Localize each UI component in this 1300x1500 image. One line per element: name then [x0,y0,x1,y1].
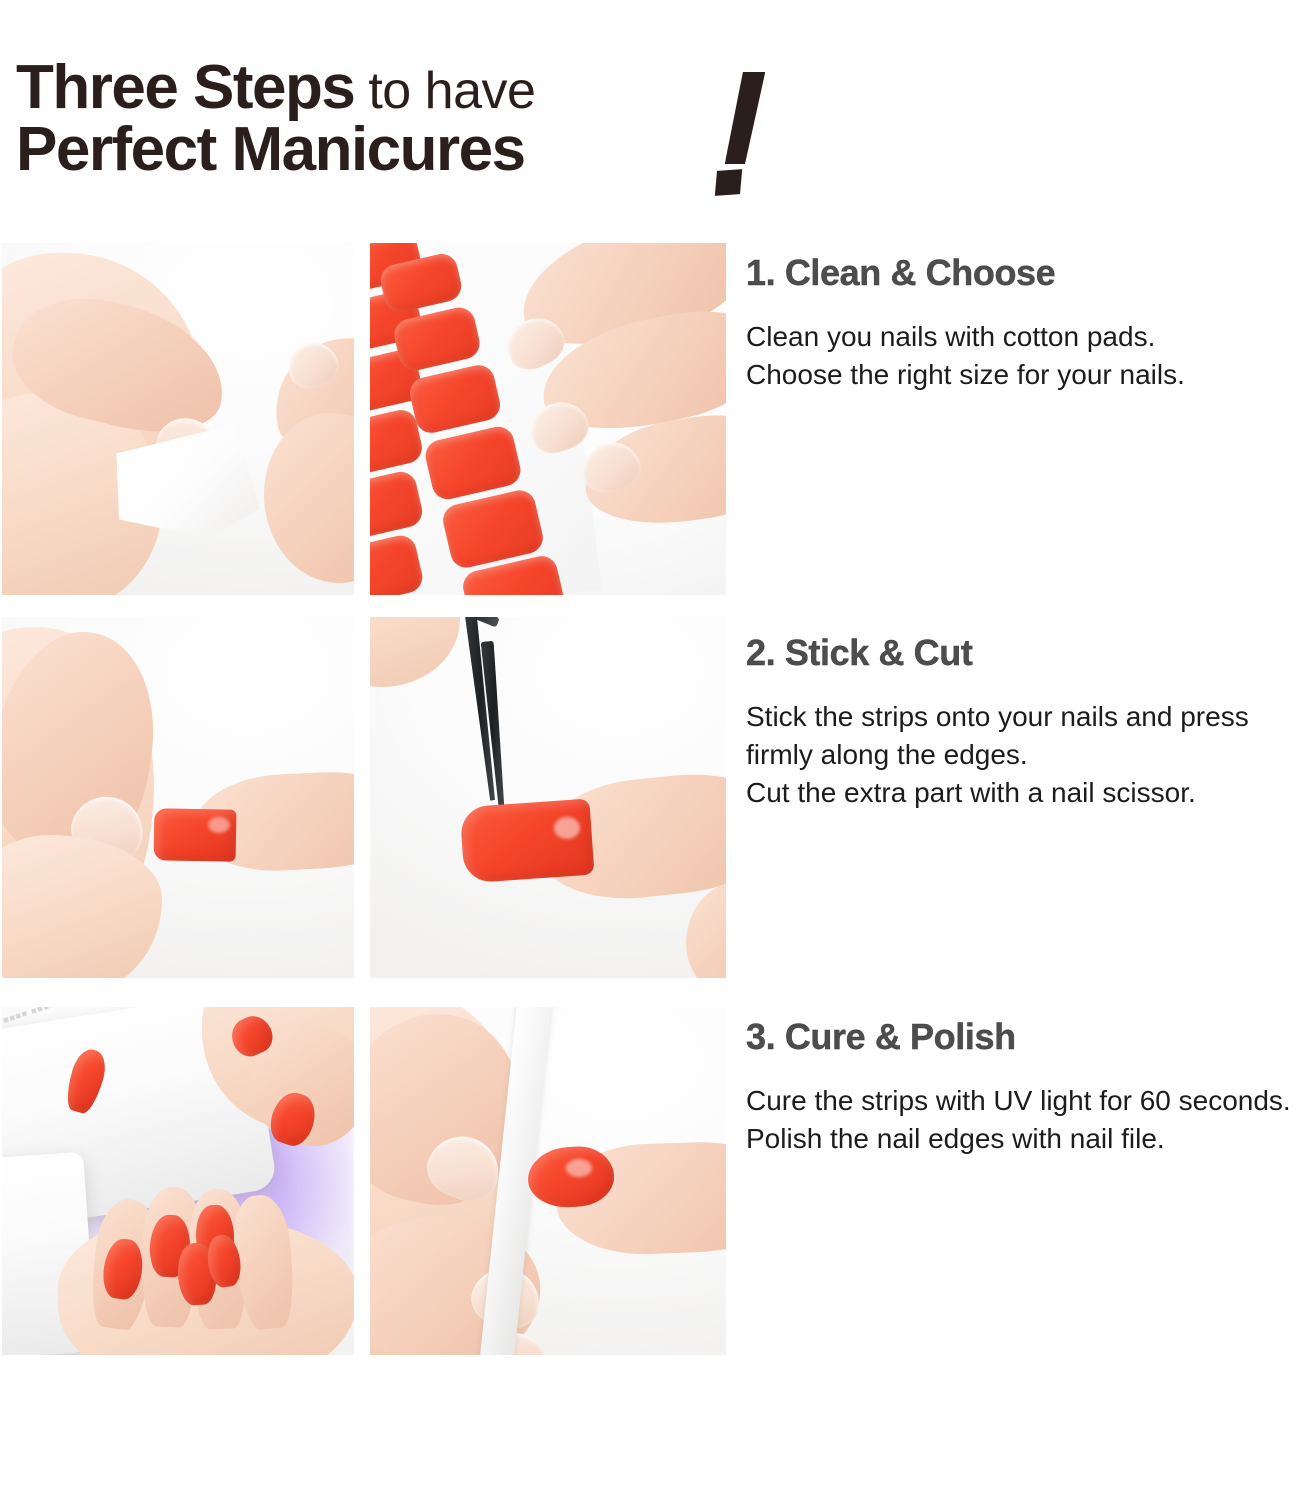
title-light-one: to have [354,62,535,120]
step-block-3: 3. Cure & Polish Cure the strips with UV… [746,1018,1298,1158]
photo-nail-file-polishing-edge [370,1007,726,1355]
title-line-two: Perfect Manicures [16,120,525,181]
filed-nail-highlight [566,1159,592,1177]
step-1-body: Clean you nails with cotton pads. Choose… [746,318,1298,394]
nail-highlight [554,817,580,839]
photo-scissors-trimming-red-nail [370,617,726,978]
step-3-line-2: Polish the nail edges with nail file. [746,1120,1298,1158]
exclamation-dot [715,169,742,196]
photo-hand-wiping-nail-with-cotton-pad [2,243,354,595]
strip-highlight [208,817,230,833]
photo-pressing-red-strip-onto-nail [2,617,354,978]
exclamation-bar [725,72,766,164]
exclamation-mark-icon [710,62,790,202]
step-2-body: Stick the strips onto your nails and pre… [746,698,1298,812]
step-3-body: Cure the strips with UV light for 60 sec… [746,1082,1298,1158]
red-nail-being-cut [460,799,595,884]
step-1-line-2: Choose the right size for your nails. [746,356,1298,394]
step-3-title: 3. Cure & Polish [746,1018,1298,1056]
step-2-title: 2. Stick & Cut [746,634,1298,672]
page-title: Three Steps to have Perfect Manicures [16,58,776,208]
photo-highlight [212,273,332,343]
red-nail-strip-on-nail [154,808,237,861]
step-block-1: 1. Clean & Choose Clean you nails with c… [746,254,1298,394]
title-strong-two: Perfect Manicures [16,115,525,184]
step-1-line-1: Clean you nails with cotton pads. [746,318,1298,356]
photo-uv-lamp-curing-nails: ■■■■ ■■■■ [2,1007,354,1355]
photo-nail-strip-sheet-with-fingers [370,243,726,595]
title-strong-one: Three Steps [16,53,354,122]
step-2-line-2: Cut the extra part with a nail scissor. [746,774,1298,812]
step-3-line-1: Cure the strips with UV light for 60 sec… [746,1082,1298,1120]
step-1-title: 1. Clean & Choose [746,254,1298,292]
title-line-one: Three Steps to have [16,58,535,119]
step-block-2: 2. Stick & Cut Stick the strips onto you… [746,634,1298,812]
step-2-line-1: Stick the strips onto your nails and pre… [746,698,1298,774]
